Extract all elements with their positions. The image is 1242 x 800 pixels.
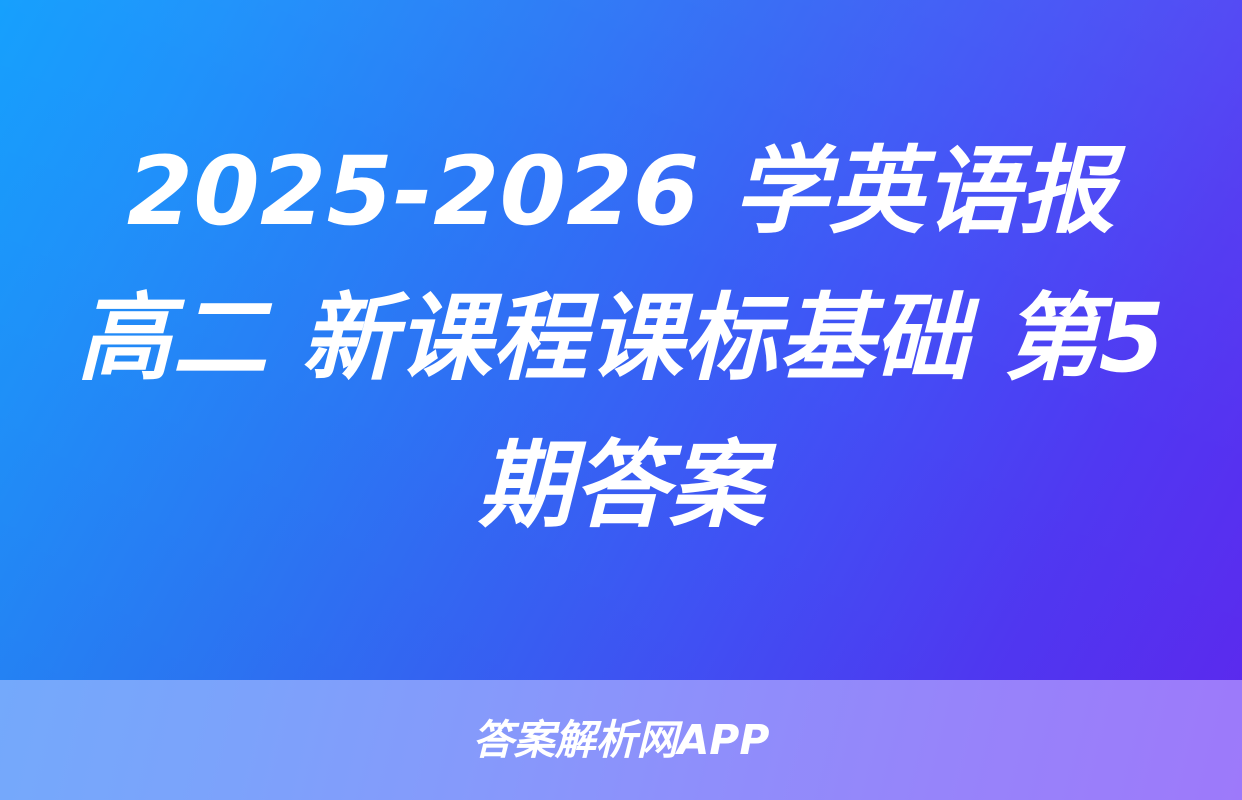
- page-title: 2025-2026 学英语报 高二 新课程课标基础 第5期答案: [71, 119, 1171, 562]
- hero-banner: 2025-2026 学英语报 高二 新课程课标基础 第5期答案: [0, 0, 1242, 680]
- app-brand-label: 答案解析网APP: [473, 720, 770, 761]
- app-brand-bar: 答案解析网APP: [0, 680, 1242, 800]
- answer-card: 2025-2026 学英语报 高二 新课程课标基础 第5期答案 答案解析网APP: [0, 0, 1242, 800]
